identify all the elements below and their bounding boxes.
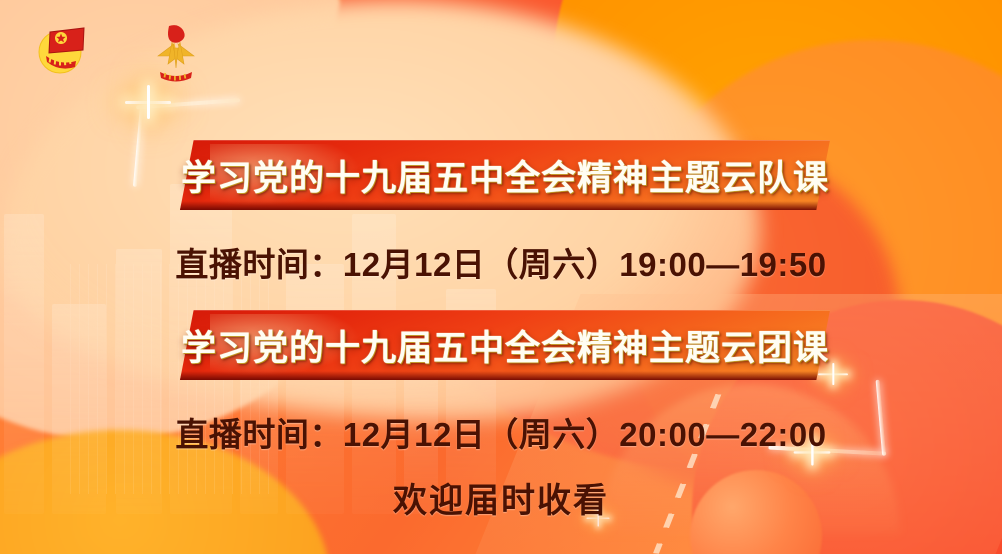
banner-title-text: 学习党的十九届五中全会精神主题云团课 xyxy=(180,310,830,380)
title-banner-league-class: 学习党的十九届五中全会精神主题云团课 xyxy=(180,310,830,380)
poster-canvas: 学习党的十九届五中全会精神主题云队课 直播时间：12月12日（周六）19:00—… xyxy=(0,0,1002,554)
young-pioneers-emblem-icon xyxy=(148,22,204,93)
broadcast-time-line-2: 直播时间：12月12日（周六）20:00—22:00 xyxy=(0,408,1002,456)
emblem-group xyxy=(34,22,204,93)
banner-title-text: 学习党的十九届五中全会精神主题云队课 xyxy=(180,140,830,210)
welcome-message: 欢迎届时收看 xyxy=(0,473,1002,522)
communist-youth-league-emblem-icon xyxy=(34,22,90,83)
title-banner-team-class: 学习党的十九届五中全会精神主题云队课 xyxy=(180,140,830,210)
broadcast-time-line-1: 直播时间：12月12日（周六）19:00—19:50 xyxy=(0,238,1002,286)
